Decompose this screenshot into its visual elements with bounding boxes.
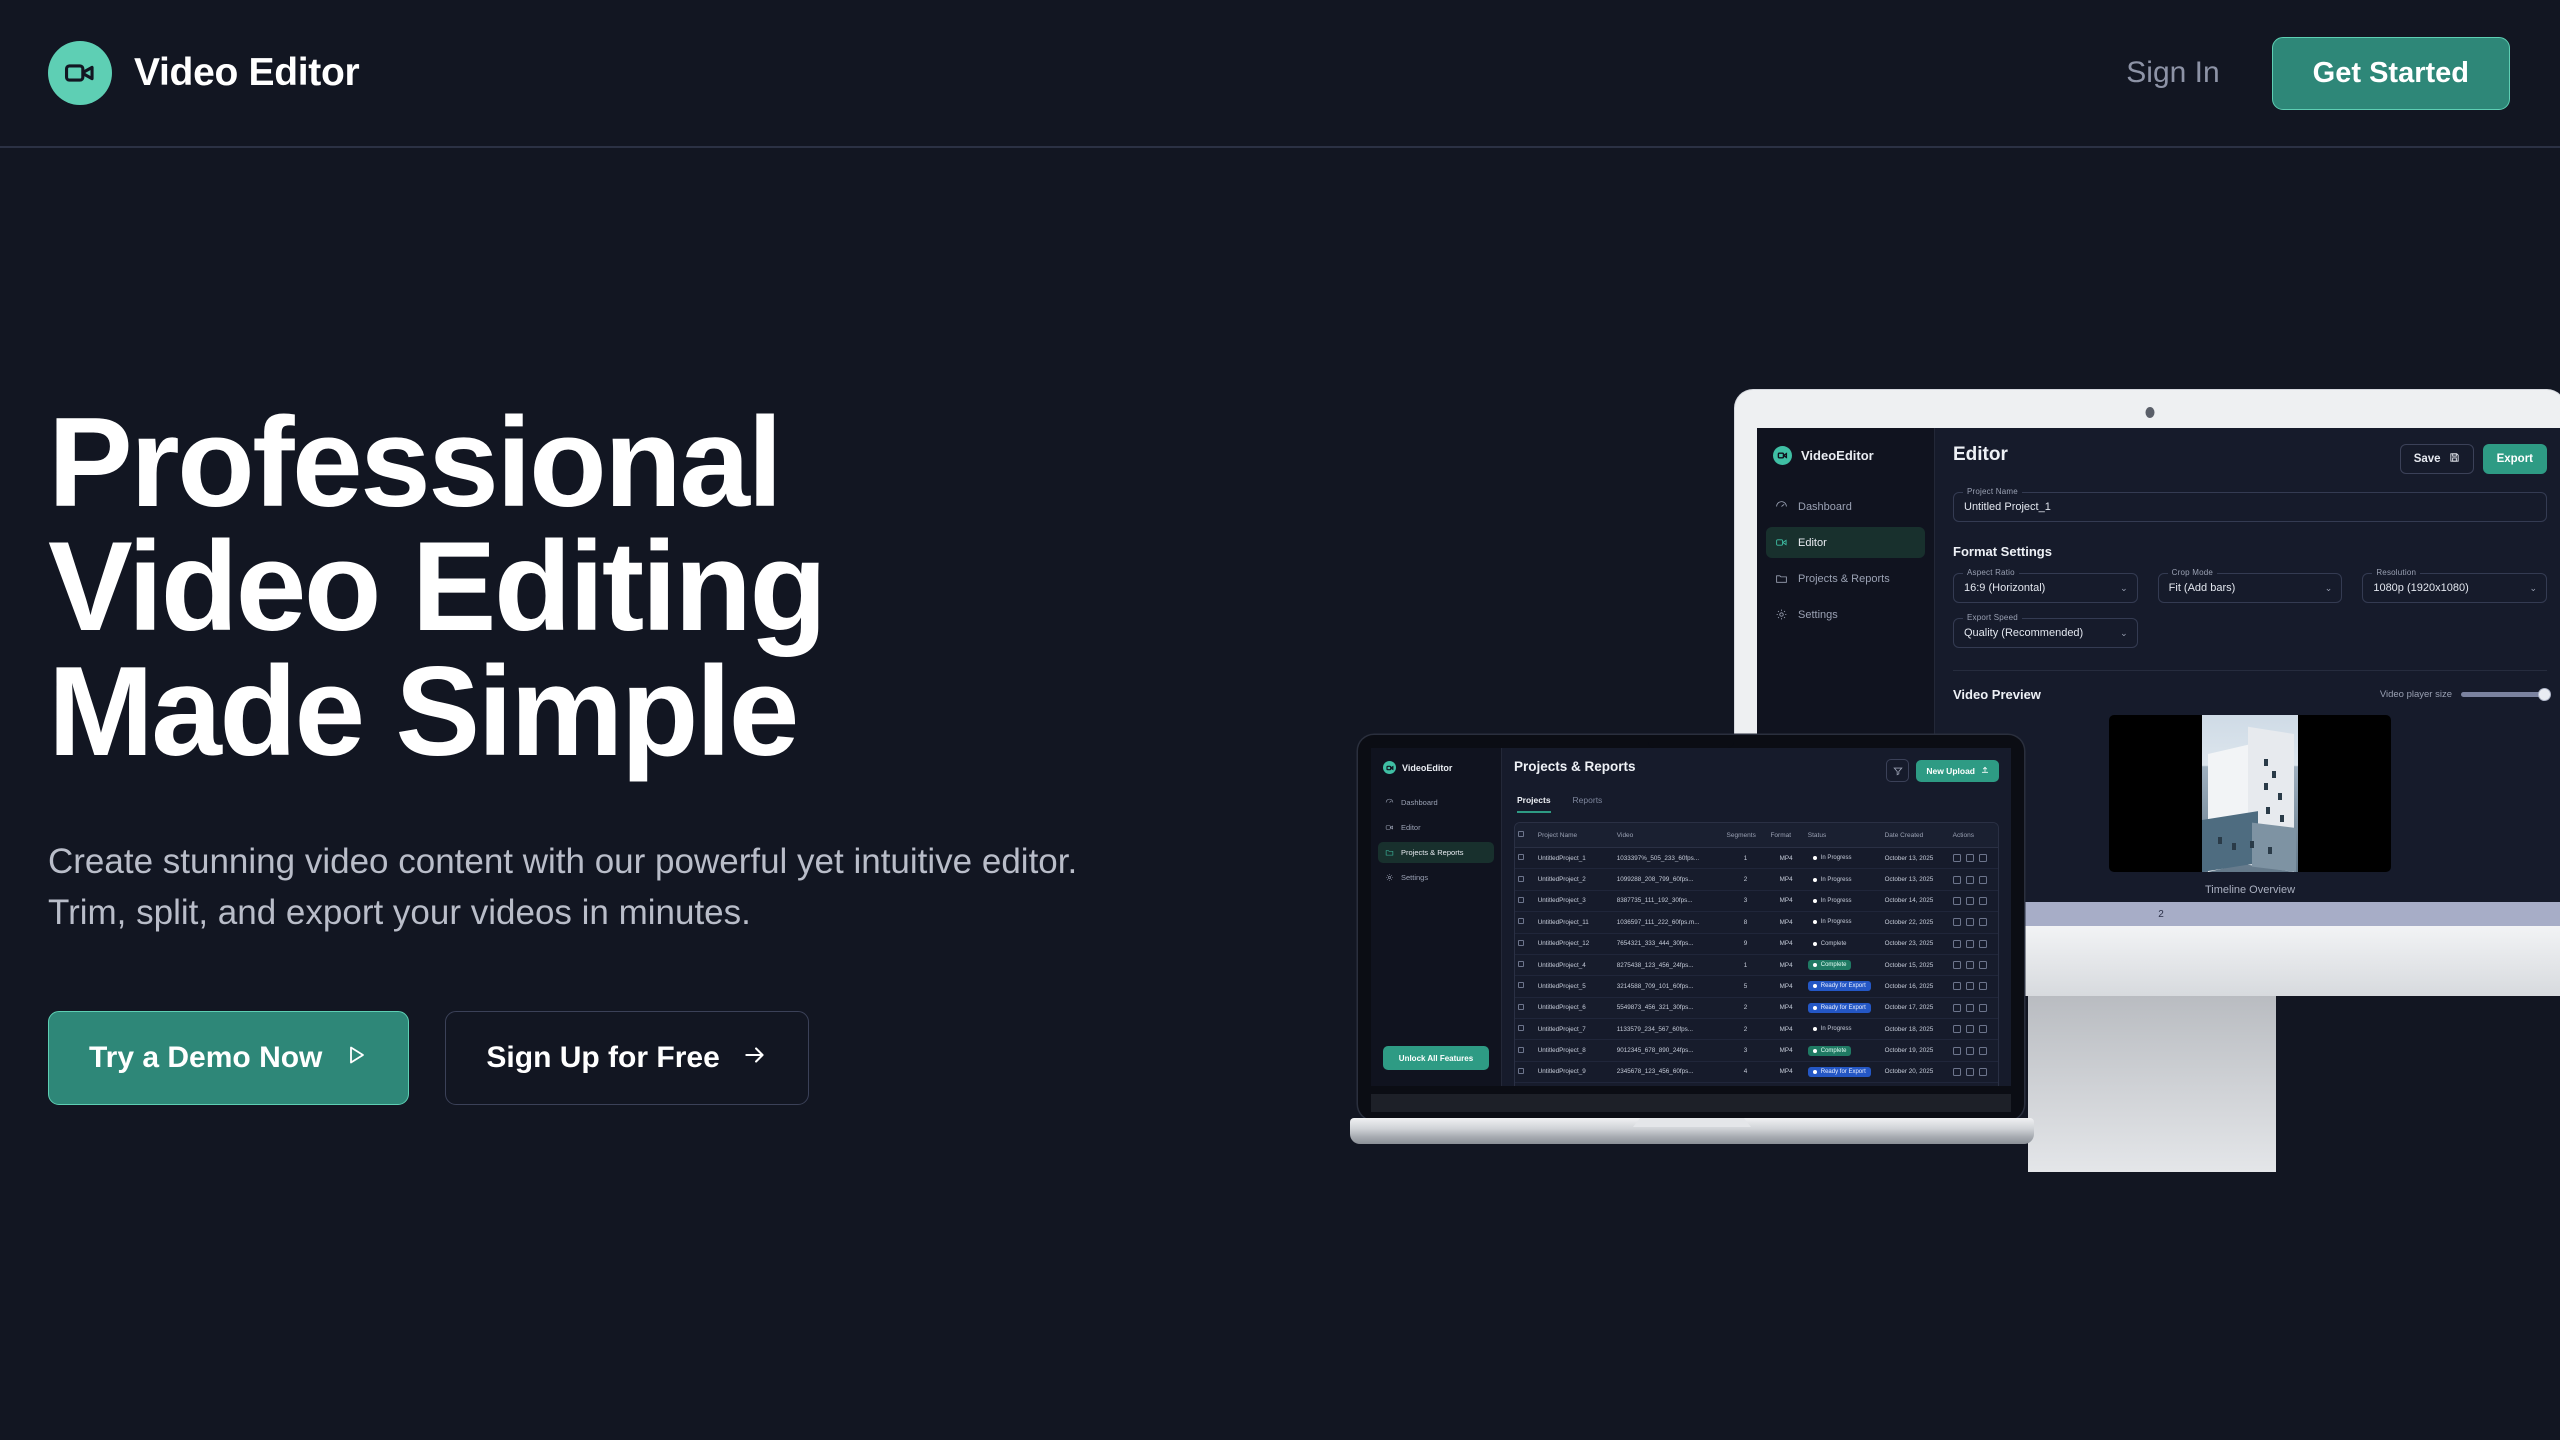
- cell-project-name: UntitledProject_10: [1535, 1083, 1614, 1086]
- cell-project-name: UntitledProject_5: [1535, 976, 1614, 997]
- table-row[interactable]: UntitledProject_71133579_234_567_60fps..…: [1515, 1019, 1998, 1040]
- section-divider: [1953, 670, 2547, 671]
- trash-icon: [1979, 982, 1987, 990]
- cell-segments: 1: [1724, 848, 1768, 869]
- cell-date-created: October 19, 2025: [1882, 1040, 1950, 1061]
- row-checkbox[interactable]: [1515, 997, 1535, 1018]
- sidebar-label: Settings: [1798, 609, 1838, 621]
- download-icon: [1966, 1004, 1974, 1012]
- sidebar-item-projects-reports[interactable]: Projects & Reports: [1766, 563, 1925, 594]
- chevron-down-icon: ⌄: [2120, 583, 2128, 594]
- cell-project-name: UntitledProject_12: [1535, 933, 1614, 954]
- resolution-label: Resolution: [2372, 568, 2420, 577]
- new-upload-label: New Upload: [1926, 766, 1975, 776]
- cell-date-created: October 22, 2025: [1882, 912, 1950, 933]
- download-icon: [1966, 1068, 1974, 1076]
- cell-video: 1133579_234_567_60fps...: [1614, 1019, 1724, 1040]
- cell-video: 5678643_987_654_30fps...: [1614, 1083, 1724, 1086]
- cell-segments: 3: [1724, 1040, 1768, 1061]
- laptop-mockup: VideoEditor Dashboard Editor: [1350, 735, 2034, 1155]
- row-checkbox[interactable]: [1515, 976, 1535, 997]
- product-mockup-scene: VideoEditor Dashboard Editor Projects & …: [1350, 390, 2560, 1190]
- cell-status: In Progress: [1805, 890, 1882, 911]
- cell-date-created: October 17, 2025: [1882, 997, 1950, 1018]
- slider-thumb[interactable]: [2538, 688, 2551, 701]
- video-preview-title: Video Preview: [1953, 687, 2041, 702]
- resolution-value: 1080p (1920x1080): [2373, 582, 2468, 594]
- row-checkbox[interactable]: [1515, 1083, 1535, 1086]
- signup-free-button[interactable]: Sign Up for Free: [445, 1011, 808, 1105]
- cell-status: In Progress: [1805, 848, 1882, 869]
- page-title: Professional Video Editing Made Simple: [48, 400, 1128, 773]
- cell-project-name: UntitledProject_11: [1535, 912, 1614, 933]
- cell-status: In Progress: [1805, 1019, 1882, 1040]
- download-icon: [1966, 1047, 1974, 1055]
- video-camera-icon: [48, 41, 112, 105]
- video-camera-icon: [1383, 761, 1396, 774]
- sidebar-item-dashboard[interactable]: Dashboard: [1766, 491, 1925, 522]
- cell-project-name: UntitledProject_4: [1535, 954, 1614, 975]
- row-checkbox[interactable]: [1515, 1040, 1535, 1061]
- col-actions: Actions: [1950, 823, 1998, 848]
- cell-project-name: UntitledProject_8: [1535, 1040, 1614, 1061]
- aspect-ratio-select[interactable]: Aspect Ratio 16:9 (Horizontal) ⌄: [1953, 573, 2138, 603]
- sidebar-item-settings[interactable]: Settings: [1766, 599, 1925, 630]
- laptop-chin: [1371, 1094, 2011, 1112]
- cell-segments: 2: [1724, 869, 1768, 890]
- crop-mode-select[interactable]: Crop Mode Fit (Add bars) ⌄: [2158, 573, 2343, 603]
- video-frame-image: [2202, 715, 2298, 872]
- cell-format: MP4: [1767, 848, 1804, 869]
- cell-actions[interactable]: [1950, 1083, 1998, 1086]
- projects-topbar: Projects & Reports New Upload: [1514, 759, 1999, 782]
- edit-icon: [1953, 876, 1961, 884]
- cell-actions[interactable]: [1950, 869, 1998, 890]
- video-preview-header: Video Preview Video player size: [1953, 687, 2547, 702]
- save-label: Save: [2414, 453, 2441, 465]
- table-row[interactable]: UntitledProject_53214588_709_101_60fps..…: [1515, 976, 1998, 997]
- try-demo-button[interactable]: Try a Demo Now: [48, 1011, 409, 1105]
- cell-project-name: UntitledProject_7: [1535, 1019, 1614, 1040]
- row-checkbox[interactable]: [1515, 848, 1535, 869]
- sidebar-label: Dashboard: [1401, 798, 1438, 807]
- download-icon: [1966, 961, 1974, 969]
- download-icon: [1966, 982, 1974, 990]
- row-checkbox[interactable]: [1515, 1019, 1535, 1040]
- cell-actions[interactable]: [1950, 1019, 1998, 1040]
- select-all-checkbox: [1518, 831, 1524, 837]
- cell-date-created: October 13, 2025: [1882, 869, 1950, 890]
- folder-icon: [1385, 848, 1394, 857]
- cell-video: 2345678_123_456_60fps...: [1614, 1061, 1724, 1082]
- sidebar-item-settings[interactable]: Settings: [1378, 867, 1494, 888]
- cell-actions[interactable]: [1950, 912, 1998, 933]
- monitor-stand: [2028, 996, 2276, 1172]
- cell-project-name: UntitledProject_1: [1535, 848, 1614, 869]
- webcam-dot-icon: [2146, 407, 2155, 418]
- laptop-base: [1350, 1118, 2034, 1144]
- cell-date-created: October 16, 2025: [1882, 976, 1950, 997]
- table-row[interactable]: UntitledProject_38387735_111_192_30fps..…: [1515, 890, 1998, 911]
- projects-table-body: UntitledProject_11033397%_505_233_60fps.…: [1515, 848, 1998, 1087]
- cell-date-created: October 18, 2025: [1882, 1019, 1950, 1040]
- floppy-disk-icon: [2449, 452, 2460, 466]
- timeline-overview-label: Timeline Overview: [1953, 884, 2547, 896]
- col-status[interactable]: Status: [1805, 823, 1882, 848]
- download-icon: [1966, 876, 1974, 884]
- cell-project-name: UntitledProject_3: [1535, 890, 1614, 911]
- projects-topbar-actions: New Upload: [1886, 759, 1999, 782]
- cell-status: Ready for Export: [1805, 1061, 1882, 1082]
- edit-icon: [1953, 897, 1961, 905]
- row-checkbox[interactable]: [1515, 912, 1535, 933]
- signup-free-label: Sign Up for Free: [486, 1043, 719, 1073]
- unlock-label: Unlock All Features: [1399, 1054, 1473, 1063]
- cell-video: 1099288_208_799_60fps...: [1614, 869, 1724, 890]
- cell-video: 9012345_678_890_24fps...: [1614, 1040, 1724, 1061]
- video-player[interactable]: [2109, 715, 2391, 872]
- editor-page-title: Editor: [1953, 444, 2008, 466]
- cell-segments: 9: [1724, 933, 1768, 954]
- sidebar-label: Projects & Reports: [1401, 848, 1464, 857]
- aspect-ratio-value: 16:9 (Horizontal): [1964, 582, 2045, 594]
- edit-icon: [1953, 982, 1961, 990]
- new-upload-button[interactable]: New Upload: [1916, 760, 1999, 782]
- export-speed-select[interactable]: Export Speed Quality (Recommended) ⌄: [1953, 618, 2138, 648]
- crop-mode-label: Crop Mode: [2168, 568, 2217, 577]
- gauge-icon: [1775, 500, 1788, 513]
- video-camera-icon: [1773, 446, 1792, 465]
- aspect-ratio-label: Aspect Ratio: [1963, 568, 2019, 577]
- cell-project-name: UntitledProject_9: [1535, 1061, 1614, 1082]
- cell-actions[interactable]: [1950, 890, 1998, 911]
- cell-video: 8275438_123_456_24fps...: [1614, 954, 1724, 975]
- gauge-icon: [1385, 798, 1394, 807]
- laptop-lid: VideoEditor Dashboard Editor: [1358, 735, 2024, 1120]
- cell-date-created: October 23, 2025: [1882, 933, 1950, 954]
- cell-segments: 8: [1724, 912, 1768, 933]
- cell-status: Complete: [1805, 1040, 1882, 1061]
- sidebar-label: Projects & Reports: [1798, 573, 1890, 585]
- sidebar-label: Settings: [1401, 873, 1428, 882]
- table-row[interactable]: UntitledProject_21099288_208_799_60fps..…: [1515, 869, 1998, 890]
- cell-status: Complete: [1805, 933, 1882, 954]
- projects-sidebar-logo-text: VideoEditor: [1402, 763, 1452, 773]
- cell-segments: 7: [1724, 1083, 1768, 1086]
- col-project-name[interactable]: Project Name: [1535, 823, 1614, 848]
- cell-actions[interactable]: [1950, 1040, 1998, 1061]
- gear-icon: [1385, 873, 1394, 882]
- download-icon: [1966, 897, 1974, 905]
- try-demo-label: Try a Demo Now: [89, 1043, 322, 1073]
- projects-table: Project Name Video Segments Format Statu…: [1514, 822, 1999, 1086]
- chevron-down-icon: ⌄: [2120, 628, 2128, 639]
- cell-segments: 2: [1724, 1019, 1768, 1040]
- hero-subtitle: Create stunning video content with our p…: [48, 837, 1118, 939]
- editor-nav: Dashboard Editor Projects & Reports Sett…: [1757, 491, 1934, 630]
- table-row[interactable]: UntitledProject_92345678_123_456_60fps..…: [1515, 1061, 1998, 1082]
- video-camera-icon: [1775, 536, 1788, 549]
- cell-segments: 5: [1724, 976, 1768, 997]
- folder-icon: [1775, 572, 1788, 585]
- laptop-base-notch: [1633, 1118, 1751, 1127]
- export-speed-label: Export Speed: [1963, 613, 2022, 622]
- editor-sidebar-logo-text: VideoEditor: [1801, 448, 1874, 463]
- cell-format: MP4: [1767, 954, 1804, 975]
- cell-format: MP4: [1767, 997, 1804, 1018]
- trash-icon: [1979, 854, 1987, 862]
- cell-video: 5549873_456_321_30fps...: [1614, 997, 1724, 1018]
- laptop-notch: [1648, 735, 1734, 748]
- table-row[interactable]: UntitledProject_65549873_456_321_30fps..…: [1515, 997, 1998, 1018]
- cell-segments: 1: [1724, 954, 1768, 975]
- table-row[interactable]: UntitledProject_89012345_678_890_24fps..…: [1515, 1040, 1998, 1061]
- export-speed-value: Quality (Recommended): [1964, 627, 2083, 639]
- download-icon: [1966, 940, 1974, 948]
- edit-icon: [1953, 1004, 1961, 1012]
- projects-page-title: Projects & Reports: [1514, 759, 1636, 774]
- cell-video: 8387735_111_192_30fps...: [1614, 890, 1724, 911]
- header-actions: Sign In Get Started: [2126, 37, 2510, 110]
- cell-actions[interactable]: [1950, 848, 1998, 869]
- cell-video: 1036597_111_222_60fps.m...: [1614, 912, 1724, 933]
- export-label: Export: [2497, 453, 2533, 465]
- gear-icon: [1775, 608, 1788, 621]
- download-icon: [1966, 1025, 1974, 1033]
- cell-video: 7654321_333_444_30fps...: [1614, 933, 1724, 954]
- editor-topbar: Editor Save Export: [1953, 444, 2547, 474]
- row-checkbox[interactable]: [1515, 933, 1535, 954]
- play-triangle-icon: [344, 1043, 368, 1073]
- projects-sidebar-logo: VideoEditor: [1371, 748, 1501, 774]
- cell-actions[interactable]: [1950, 976, 1998, 997]
- laptop-screen: VideoEditor Dashboard Editor: [1371, 748, 2011, 1086]
- cell-status: Ready for Export: [1805, 976, 1882, 997]
- cell-date-created: October 15, 2025: [1882, 954, 1950, 975]
- cell-date-created: October 14, 2025: [1882, 890, 1950, 911]
- save-button[interactable]: Save: [2400, 444, 2474, 474]
- player-size-label: Video player size: [2380, 689, 2452, 700]
- chevron-down-icon: ⌄: [2325, 583, 2333, 594]
- project-name-label: Project Name: [1963, 487, 2022, 496]
- col-select[interactable]: [1515, 823, 1535, 848]
- cell-format: MP4: [1767, 976, 1804, 997]
- cell-video: 1033397%_505_233_60fps...: [1614, 848, 1724, 869]
- video-camera-icon: [1385, 823, 1394, 832]
- cell-segments: 4: [1724, 1061, 1768, 1082]
- cell-actions[interactable]: [1950, 1061, 1998, 1082]
- get-started-button[interactable]: Get Started: [2272, 37, 2510, 110]
- editor-topbar-actions: Save Export: [2400, 444, 2547, 474]
- row-checkbox[interactable]: [1515, 954, 1535, 975]
- export-button[interactable]: Export: [2483, 444, 2547, 474]
- tab-reports[interactable]: Reports: [1573, 795, 1603, 813]
- trash-icon: [1979, 876, 1987, 884]
- player-size-slider[interactable]: Video player size: [2380, 689, 2547, 700]
- col-format[interactable]: Format: [1767, 823, 1804, 848]
- table-row[interactable]: UntitledProject_48275438_123_456_24fps..…: [1515, 954, 1998, 975]
- cell-status: In Progress: [1805, 869, 1882, 890]
- cell-format: MP4: [1767, 1019, 1804, 1040]
- col-date-created[interactable]: Date Created: [1882, 823, 1950, 848]
- cell-format: MP4: [1767, 912, 1804, 933]
- cell-status: Ready for Export: [1805, 997, 1882, 1018]
- cell-format: MP4: [1767, 1083, 1804, 1086]
- chevron-down-icon: ⌄: [2529, 583, 2537, 594]
- trash-icon: [1979, 897, 1987, 905]
- sidebar-label: Editor: [1401, 823, 1421, 832]
- cell-segments: 2: [1724, 997, 1768, 1018]
- unlock-all-features-button[interactable]: Unlock All Features: [1383, 1046, 1489, 1070]
- project-name-field[interactable]: Project Name Untitled Project_1: [1953, 492, 2547, 522]
- cell-format: MP4: [1767, 869, 1804, 890]
- project-name-value: Untitled Project_1: [1964, 501, 2051, 513]
- sign-in-link[interactable]: Sign In: [2126, 56, 2219, 90]
- crop-mode-value: Fit (Add bars): [2169, 582, 2236, 594]
- sidebar-item-dashboard[interactable]: Dashboard: [1378, 792, 1494, 813]
- edit-icon: [1953, 854, 1961, 862]
- hero-actions: Try a Demo Now Sign Up for Free: [48, 1011, 1128, 1105]
- trash-icon: [1979, 1068, 1987, 1076]
- sidebar-item-projects-reports[interactable]: Projects & Reports: [1378, 842, 1494, 863]
- sidebar-label: Dashboard: [1798, 501, 1852, 513]
- table-row[interactable]: UntitledProject_105678643_987_654_30fps.…: [1515, 1083, 1998, 1086]
- edit-icon: [1953, 961, 1961, 969]
- cell-date-created: October 13, 2025: [1882, 848, 1950, 869]
- format-settings-grid: Aspect Ratio 16:9 (Horizontal) ⌄ Crop Mo…: [1953, 573, 2547, 648]
- edit-icon: [1953, 918, 1961, 926]
- tab-projects[interactable]: Projects: [1517, 795, 1551, 813]
- edit-icon: [1953, 1047, 1961, 1055]
- table-row[interactable]: UntitledProject_111036597_111_222_60fps.…: [1515, 912, 1998, 933]
- download-icon: [1966, 918, 1974, 926]
- cell-status: In Progress: [1805, 912, 1882, 933]
- arrow-right-icon: [742, 1042, 768, 1074]
- trash-icon: [1979, 918, 1987, 926]
- slider-track[interactable]: [2461, 692, 2547, 697]
- brand[interactable]: Video Editor: [48, 41, 359, 105]
- editor-sidebar-logo: VideoEditor: [1757, 428, 1934, 465]
- row-checkbox[interactable]: [1515, 1061, 1535, 1082]
- hero-section: Professional Video Editing Made Simple C…: [48, 400, 1128, 1105]
- download-icon: [1966, 854, 1974, 862]
- trash-icon: [1979, 961, 1987, 969]
- cell-actions[interactable]: [1950, 954, 1998, 975]
- cell-actions[interactable]: [1950, 997, 1998, 1018]
- table-row[interactable]: UntitledProject_127654321_333_444_30fps.…: [1515, 933, 1998, 954]
- cell-format: MP4: [1767, 1040, 1804, 1061]
- cell-date-created: October 20, 2025: [1882, 1061, 1950, 1082]
- format-settings-heading: Format Settings: [1953, 544, 2547, 559]
- site-header: Video Editor Sign In Get Started: [0, 0, 2560, 148]
- cell-actions[interactable]: [1950, 933, 1998, 954]
- projects-tabs: Projects Reports: [1514, 795, 1999, 813]
- cell-segments: 3: [1724, 890, 1768, 911]
- cell-format: MP4: [1767, 933, 1804, 954]
- upload-icon: [1981, 766, 1989, 776]
- trash-icon: [1979, 1025, 1987, 1033]
- filter-icon[interactable]: [1886, 759, 1909, 782]
- row-checkbox[interactable]: [1515, 869, 1535, 890]
- projects-main: Projects & Reports New Upload: [1502, 748, 2011, 1086]
- trash-icon: [1979, 940, 1987, 948]
- edit-icon: [1953, 1025, 1961, 1033]
- table-header-row: Project Name Video Segments Format Statu…: [1515, 823, 1998, 848]
- table-row[interactable]: UntitledProject_11033397%_505_233_60fps.…: [1515, 848, 1998, 869]
- timeline-value: 2: [2158, 909, 2164, 920]
- row-checkbox[interactable]: [1515, 890, 1535, 911]
- sidebar-item-editor[interactable]: Editor: [1378, 817, 1494, 838]
- trash-icon: [1979, 1047, 1987, 1055]
- trash-icon: [1979, 1004, 1987, 1012]
- cell-format: MP4: [1767, 890, 1804, 911]
- cell-project-name: UntitledProject_6: [1535, 997, 1614, 1018]
- col-video[interactable]: Video: [1614, 823, 1724, 848]
- projects-sidebar: VideoEditor Dashboard Editor: [1371, 748, 1502, 1086]
- cell-format: MP4: [1767, 1061, 1804, 1082]
- edit-icon: [1953, 940, 1961, 948]
- cell-status: Export Failed: [1805, 1083, 1882, 1086]
- resolution-select[interactable]: Resolution 1080p (1920x1080) ⌄: [2362, 573, 2547, 603]
- edit-icon: [1953, 1068, 1961, 1076]
- brand-name: Video Editor: [134, 51, 359, 95]
- projects-nav: Dashboard Editor Projects & Reports: [1371, 792, 1501, 888]
- cell-date-created: October 21, 2025: [1882, 1083, 1950, 1086]
- col-segments[interactable]: Segments: [1724, 823, 1768, 848]
- cell-project-name: UntitledProject_2: [1535, 869, 1614, 890]
- cell-status: Complete: [1805, 954, 1882, 975]
- cell-video: 3214588_709_101_60fps...: [1614, 976, 1724, 997]
- sidebar-item-editor[interactable]: Editor: [1766, 527, 1925, 558]
- sidebar-label: Editor: [1798, 537, 1827, 549]
